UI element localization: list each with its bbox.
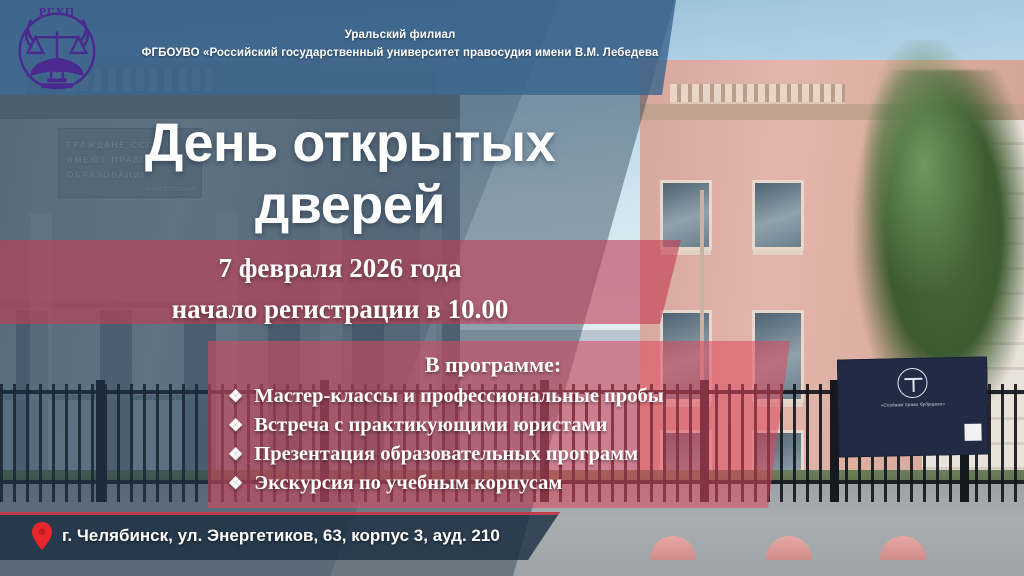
right-building-balustrade [670,84,845,106]
page-title: День открытых дверей [60,112,640,236]
university-name: ФГБОУВО «Российский государственный унив… [120,44,680,62]
organization-header: Уральский филиал ФГБОУВО «Российский гос… [120,26,680,62]
rgup-logo-icon: РГУП [8,2,106,94]
window [752,180,804,250]
window [660,180,712,250]
foliage [864,40,984,290]
program-heading: В программе: [208,352,778,378]
list-item-label: Встреча с практикующими юристами [254,411,607,440]
banner-slogan: «Создаем право будущего» [839,400,987,408]
list-item-label: Презентация образовательных программ [254,440,638,469]
map-pin-icon [32,522,52,550]
list-item-label: Экскурсия по учебным корпусам [254,469,562,498]
list-item-label: Мастер-классы и профессиональные пробы [254,382,664,411]
banner-emblem-icon [897,368,928,399]
banner-qr-code-icon [964,424,981,441]
event-registration-time: начало регистрации в 10.00 [20,289,660,330]
title-line-2: дверей [60,174,640,236]
list-item: ❖Экскурсия по учебным корпусам [228,469,778,498]
diamond-bullet-icon: ❖ [228,440,243,469]
list-item: ❖Мастер-классы и профессиональные пробы [228,382,778,411]
diamond-bullet-icon: ❖ [228,469,243,498]
title-line-1: День открытых [60,112,640,174]
list-item: ❖Презентация образовательных программ [228,440,778,469]
program-list: ❖Мастер-классы и профессиональные пробы … [208,382,778,498]
diamond-bullet-icon: ❖ [228,382,243,411]
venue-address: г. Челябинск, ул. Энергетиков, 63, корпу… [32,522,500,550]
address-text: г. Челябинск, ул. Энергетиков, 63, корпу… [62,526,500,546]
poster-canvas: ГРАЖДАНЕ СССР ИМЕЮТ ПРАВО НА ОБРАЗОВАНИЕ… [0,0,1024,576]
fence-banner: «Создаем право будущего» [837,356,989,457]
program-section: В программе: ❖Мастер-классы и профессион… [208,352,778,498]
logo-abbreviation: РГУП [39,6,75,19]
event-date: 7 февраля 2026 года [20,248,660,289]
diamond-bullet-icon: ❖ [228,411,243,440]
branch-name: Уральский филиал [120,26,680,44]
list-item: ❖Встреча с практикующими юристами [228,411,778,440]
event-date-block: 7 февраля 2026 года начало регистрации в… [20,248,660,330]
